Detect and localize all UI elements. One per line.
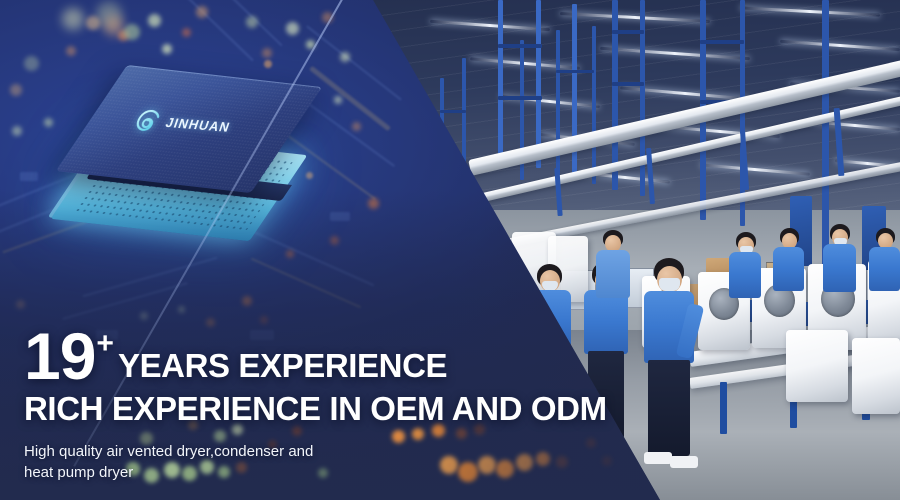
worker-legs xyxy=(648,360,690,456)
description-line-1: High quality air vented dryer,condenser … xyxy=(24,441,354,463)
steel-rack-post xyxy=(592,26,596,184)
promo-banner: JINHUAN xyxy=(0,0,900,500)
worker-uniform xyxy=(596,250,630,298)
steel-rack-rung xyxy=(556,70,594,73)
steel-rack-rung xyxy=(612,82,644,86)
factory-worker xyxy=(726,232,766,328)
years-number: 19 xyxy=(24,326,95,387)
dryer-cabinet xyxy=(786,330,848,402)
worker-uniform xyxy=(773,247,804,291)
factory-worker xyxy=(592,230,636,310)
headline-block: 19 + YEARS EXPERIENCE RICH EXPERIENCE IN… xyxy=(24,326,624,484)
steel-rack-rung xyxy=(498,44,542,48)
factory-worker xyxy=(820,224,862,320)
steel-rack-post xyxy=(572,4,577,180)
description: High quality air vented dryer,condenser … xyxy=(24,441,354,485)
worker-uniform xyxy=(729,252,761,298)
years-line: 19 + YEARS EXPERIENCE xyxy=(24,326,624,387)
subheadline: RICH EXPERIENCE IN OEM AND ODM xyxy=(24,390,624,428)
steel-rack-rung xyxy=(612,30,644,34)
worker-uniform xyxy=(869,247,900,291)
factory-worker xyxy=(770,228,810,320)
worker-face-mask xyxy=(659,278,680,291)
factory-worker xyxy=(636,258,706,478)
years-experience-label: YEARS EXPERIENCE xyxy=(118,351,447,381)
factory-worker xyxy=(866,228,900,320)
worker-shoe xyxy=(644,452,672,464)
bench-leg xyxy=(720,382,727,434)
steel-rack-post xyxy=(556,30,560,180)
steel-rack-rung xyxy=(700,40,744,44)
steel-rack-rung xyxy=(498,96,542,100)
steel-rack-rung xyxy=(440,110,466,113)
plus-symbol: + xyxy=(96,330,114,358)
description-line-2: heat pump dryer xyxy=(24,462,354,484)
dryer-cabinet xyxy=(852,338,900,414)
worker-uniform xyxy=(823,244,856,292)
steel-rack-post xyxy=(498,0,503,160)
worker-shoe xyxy=(670,456,698,468)
